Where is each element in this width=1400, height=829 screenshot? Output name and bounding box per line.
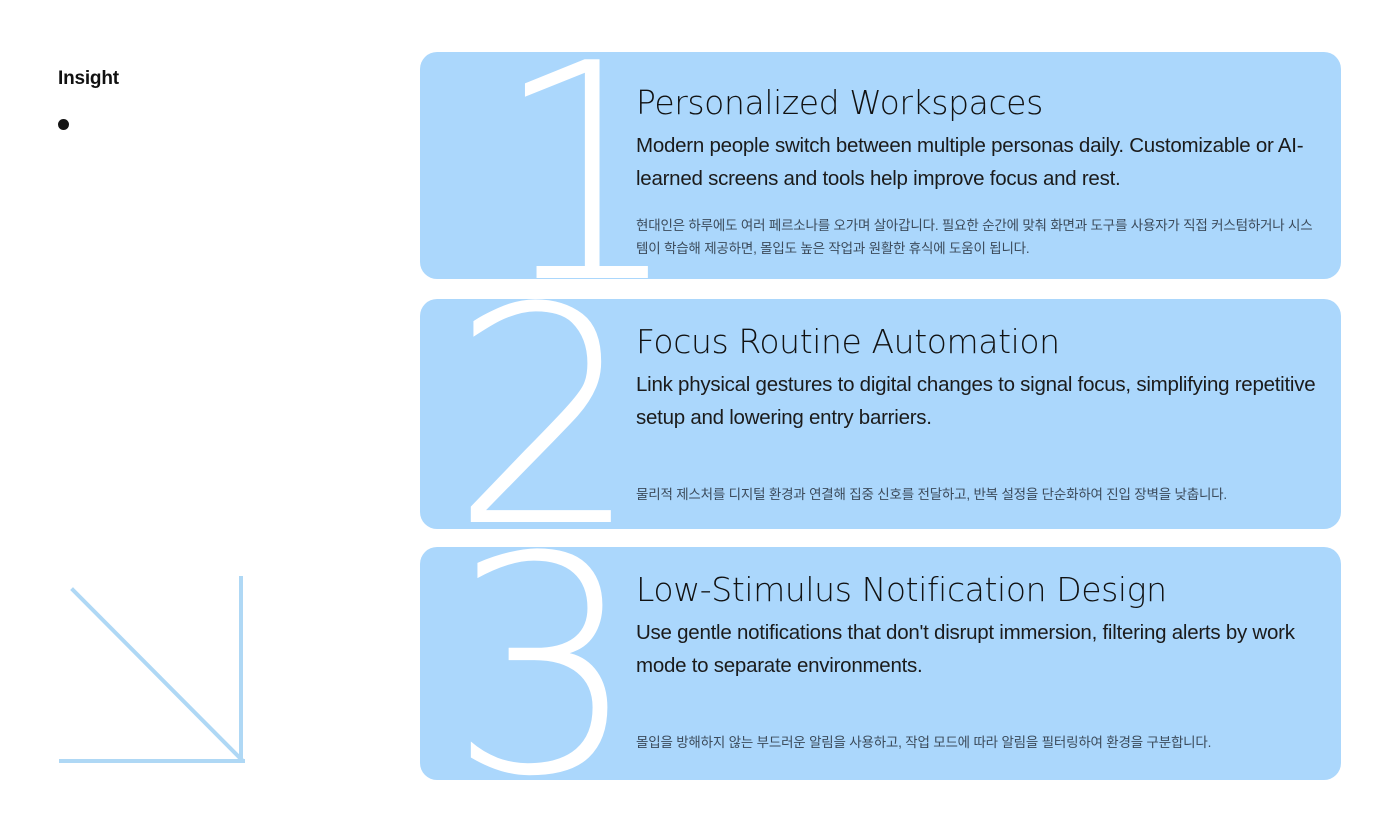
card-number-3: 3 bbox=[448, 551, 639, 780]
card-description-ko-1: 현대인은 하루에도 여러 페르소나를 오가며 살아갑니다. 필요한 순간에 맞춰… bbox=[636, 214, 1316, 261]
insight-card-1[interactable]: 1 Personalized Workspaces Modern people … bbox=[420, 52, 1341, 279]
card-description-en-2: Link physical gestures to digital change… bbox=[636, 368, 1321, 434]
card-title-1: Personalized Workspaces bbox=[636, 84, 1321, 122]
card-description-en-1: Modern people switch between multiple pe… bbox=[636, 129, 1321, 195]
slide-canvas: Insight 1 Personalized Workspaces Modern… bbox=[0, 0, 1400, 829]
card-description-en-3: Use gentle notifications that don't disr… bbox=[636, 616, 1321, 682]
down-right-arrow-icon bbox=[55, 565, 255, 775]
card-number-2: 2 bbox=[450, 302, 641, 529]
left-rail: Insight bbox=[0, 0, 420, 829]
list-item bbox=[58, 119, 72, 133]
card-title-2: Focus Routine Automation bbox=[636, 323, 1321, 361]
bullet-dot-icon bbox=[58, 119, 69, 130]
card-body-1: Personalized Workspaces Modern people sw… bbox=[636, 84, 1321, 261]
insight-card-2[interactable]: 2 Focus Routine Automation Link physical… bbox=[420, 299, 1341, 529]
card-body-3: Low-Stimulus Notification Design Use gen… bbox=[636, 571, 1321, 754]
card-title-3: Low-Stimulus Notification Design bbox=[636, 571, 1321, 609]
card-body-2: Focus Routine Automation Link physical g… bbox=[636, 323, 1321, 506]
page-title: Insight bbox=[58, 68, 119, 91]
insight-card-list: 1 Personalized Workspaces Modern people … bbox=[420, 52, 1341, 780]
card-description-ko-2: 물리적 제스처를 디지털 환경과 연결해 집중 신호를 전달하고, 반복 설정을… bbox=[636, 483, 1316, 507]
bullet-list bbox=[58, 119, 72, 133]
insight-card-3[interactable]: 3 Low-Stimulus Notification Design Use g… bbox=[420, 547, 1341, 780]
card-description-ko-3: 몰입을 방해하지 않는 부드러운 알림을 사용하고, 작업 모드에 따라 알림을… bbox=[636, 731, 1316, 755]
